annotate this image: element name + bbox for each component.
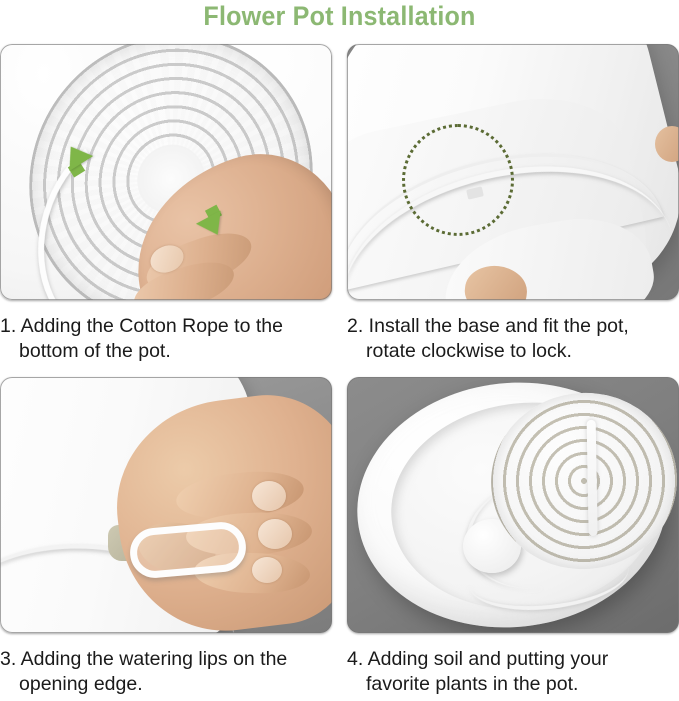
step-1-caption: 1. Adding the Cotton Rope to the bottom … (0, 314, 330, 364)
fingernail-shape (252, 557, 282, 583)
page-title: Flower Pot Installation (24, 0, 655, 36)
caption-line: opening edge. (0, 672, 330, 697)
dotted-circle-highlight-icon (402, 124, 514, 236)
caption-line: 2. Install the base and fit the pot, (347, 314, 677, 339)
step-3: 3. Adding the watering lips on the openi… (0, 377, 332, 697)
caption-line: 4. Adding soil and putting your (347, 647, 677, 672)
fingernail-shape (258, 519, 292, 549)
step-4-image (347, 377, 679, 633)
step-2: 2. Install the base and fit the pot, rot… (347, 44, 679, 364)
caption-line: 1. Adding the Cotton Rope to the (0, 314, 330, 339)
step-2-caption: 2. Install the base and fit the pot, rot… (347, 314, 677, 364)
step-3-caption: 3. Adding the watering lips on the openi… (0, 647, 330, 697)
step-1-image (0, 44, 332, 300)
fingernail-shape (252, 481, 286, 511)
flower-pot-installation-sheet: Flower Pot Installation 1. Add (0, 0, 679, 701)
caption-line: bottom of the pot. (0, 339, 330, 364)
step-3-image (0, 377, 332, 633)
drainage-grid (480, 381, 679, 581)
steps-grid: 1. Adding the Cotton Rope to the bottom … (0, 36, 679, 701)
step-1: 1. Adding the Cotton Rope to the bottom … (0, 44, 332, 364)
step-4-caption: 4. Adding soil and putting your favorite… (347, 647, 677, 697)
grid-center-bar (586, 420, 597, 536)
step-2-image (347, 44, 679, 300)
caption-line: favorite plants in the pot. (347, 672, 677, 697)
step-4: 4. Adding soil and putting your favorite… (347, 377, 679, 697)
caption-line: 3. Adding the watering lips on the (0, 647, 330, 672)
caption-line: rotate clockwise to lock. (347, 339, 677, 364)
